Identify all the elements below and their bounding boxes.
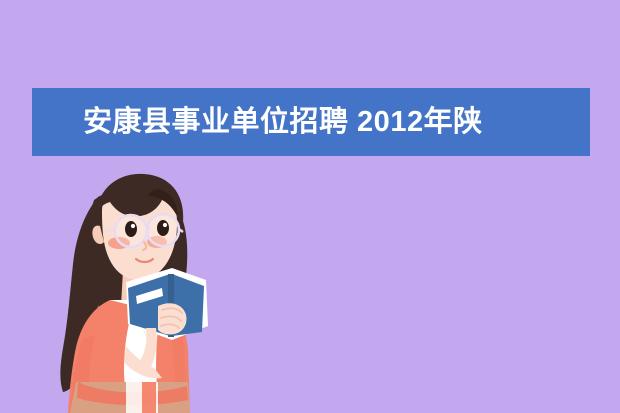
page-root: 安康县事业单位招聘 2012年陕 [0,0,620,413]
eye-highlight-right [163,223,167,227]
glasses-bridge-arc [147,228,150,231]
title-banner: 安康县事业单位招聘 2012年陕 [32,88,590,156]
eye-right [157,220,169,236]
eye-highlight-left [131,224,135,228]
eye-left [125,221,137,237]
cardigan-front-strip [142,382,156,413]
page-title: 安康县事业单位招聘 2012年陕 [83,108,483,137]
woman-reading-book-illustration [30,160,230,413]
